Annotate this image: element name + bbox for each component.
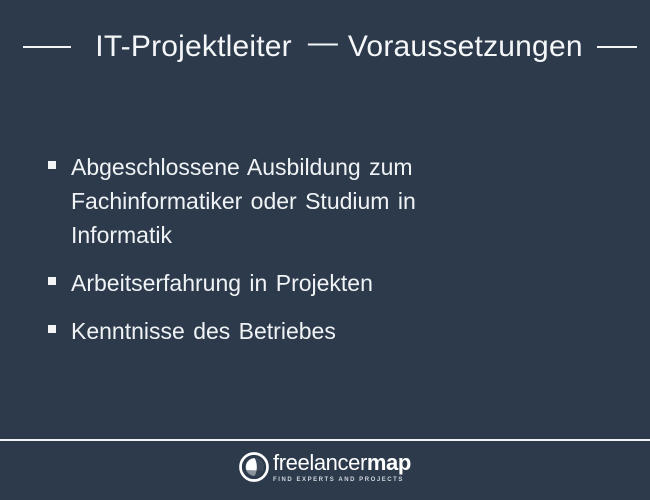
square-bullet-icon xyxy=(48,325,56,333)
logo-word-map: map xyxy=(367,450,411,475)
list-item-label: Kenntnisse des Betriebes xyxy=(71,314,336,348)
title-separator-dash: — xyxy=(308,28,338,58)
freelancermap-logo: freelancermap FIND EXPERTS AND PROJECTS xyxy=(239,450,411,483)
title-sub: Voraussetzungen xyxy=(348,32,583,62)
list-item: Kenntnisse des Betriebes xyxy=(48,314,568,348)
title-main: IT-Projektleiter xyxy=(95,32,292,62)
logo-text-block: freelancermap FIND EXPERTS AND PROJECTS xyxy=(273,450,411,483)
logo-word-freelancer: freelancer xyxy=(273,450,367,475)
bullet-list: Abgeschlossene Ausbildung zum Fachinform… xyxy=(48,150,568,348)
freelancermap-swirl-icon xyxy=(239,452,269,482)
slide-footer: freelancermap FIND EXPERTS AND PROJECTS xyxy=(0,450,650,483)
list-item: Abgeschlossene Ausbildung zum Fachinform… xyxy=(48,150,568,252)
list-item-label: Abgeschlossene Ausbildung zum Fachinform… xyxy=(71,150,471,252)
list-item-label: Arbeitserfahrung in Projekten xyxy=(71,266,373,300)
square-bullet-icon xyxy=(48,161,56,169)
logo-tagline: FIND EXPERTS AND PROJECTS xyxy=(273,477,411,483)
slide-header: IT-Projektleiter — Voraussetzungen xyxy=(0,26,650,68)
header-rule-left xyxy=(23,46,71,48)
footer-divider xyxy=(0,439,650,441)
list-item: Arbeitserfahrung in Projekten xyxy=(48,266,568,300)
logo-wordmark: freelancermap xyxy=(273,452,411,474)
square-bullet-icon xyxy=(48,277,56,285)
slide-canvas: IT-Projektleiter — Voraussetzungen Abges… xyxy=(0,0,650,500)
page-title: IT-Projektleiter — Voraussetzungen xyxy=(95,32,582,62)
header-rule-right xyxy=(597,46,637,48)
